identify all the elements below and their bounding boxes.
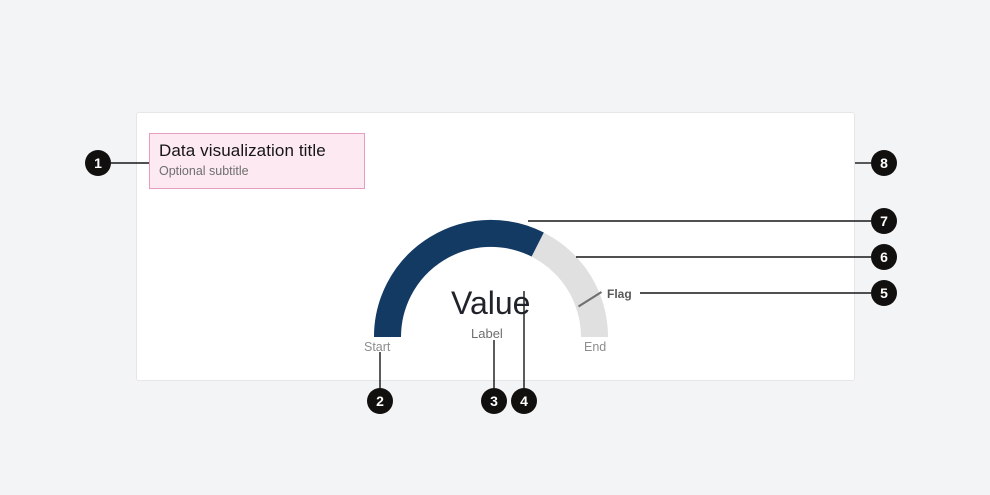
callout-badge-8: 8 <box>871 150 897 176</box>
callout-badge-3: 3 <box>481 388 507 414</box>
callout-badge-2: 2 <box>367 388 393 414</box>
gauge-center-sublabel: Label <box>471 326 503 341</box>
gauge-center-value: Value <box>451 285 530 321</box>
callout-badge-1: 1 <box>85 150 111 176</box>
callout-badge-4: 4 <box>511 388 537 414</box>
gauge-start-label: Start <box>364 340 390 354</box>
gauge-end-label: End <box>584 340 606 354</box>
gauge-visualization <box>0 0 990 495</box>
callout-badge-7: 7 <box>871 208 897 234</box>
callout-badge-5: 5 <box>871 280 897 306</box>
screenshot-stage: Data visualization title Optional subtit… <box>0 0 990 495</box>
gauge-flag-label: Flag <box>607 287 632 301</box>
page-subtitle: Optional subtitle <box>159 163 364 180</box>
page-title: Data visualization title <box>159 140 364 161</box>
callout-badge-6: 6 <box>871 244 897 270</box>
title-highlight-box: Data visualization title Optional subtit… <box>149 133 365 189</box>
